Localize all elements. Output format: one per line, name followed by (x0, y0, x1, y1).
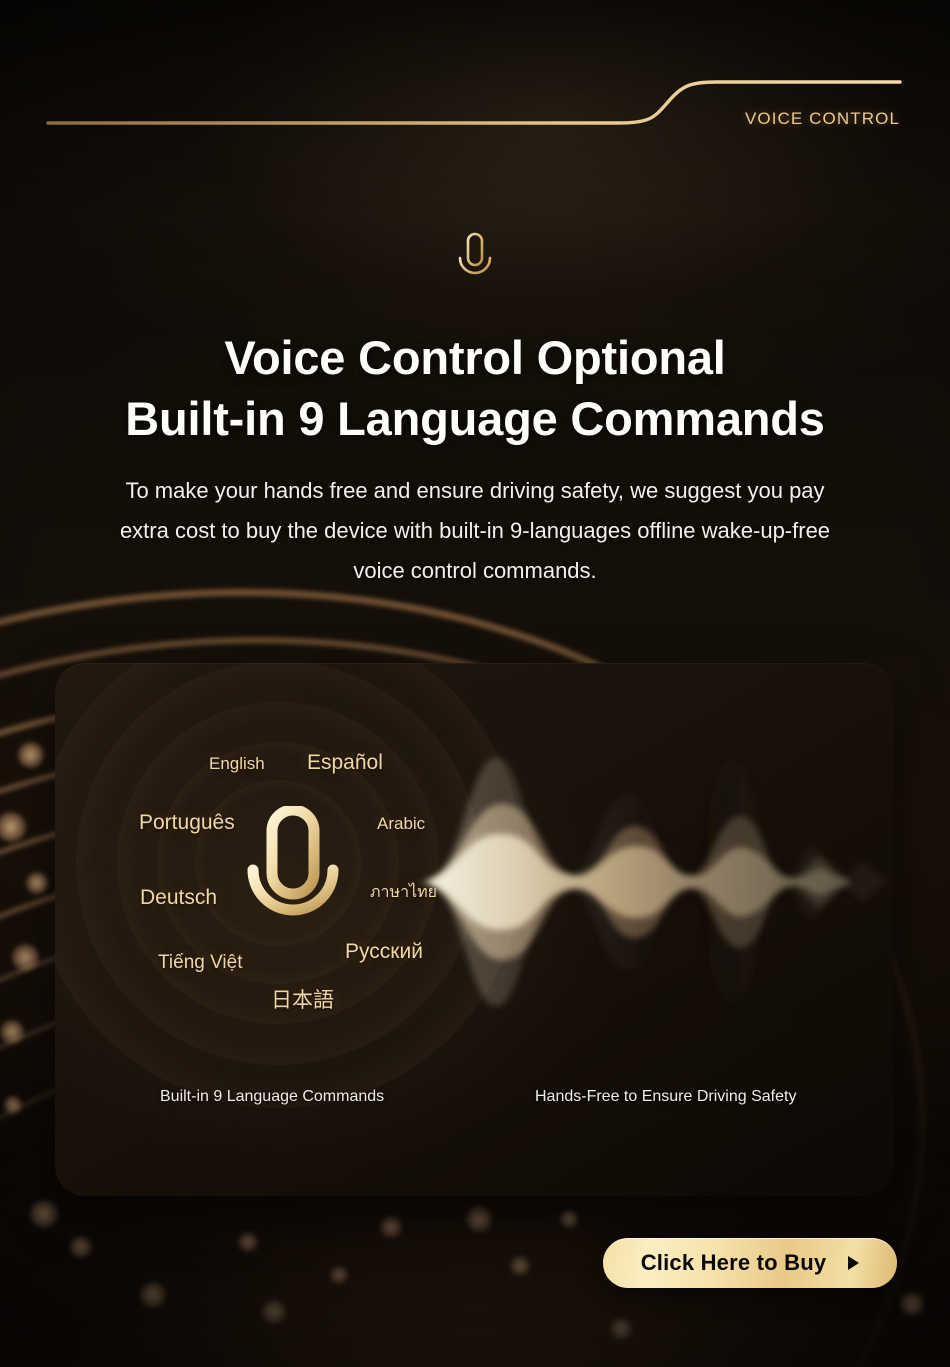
language-label: Русский (345, 940, 423, 964)
voice-control-promo-page: VOICE CONTROL Voice Control Optional Bui… (0, 0, 950, 1367)
hero-section: Voice Control Optional Built-in 9 Langua… (0, 230, 950, 591)
language-label: ภาษาไทย (370, 880, 437, 905)
title-line-2: Built-in 9 Language Commands (0, 388, 950, 449)
language-label: English (209, 754, 265, 774)
caption-languages: Built-in 9 Language Commands (160, 1088, 384, 1106)
language-label: Tiếng Việt (158, 952, 243, 974)
audio-waveform (410, 742, 900, 1022)
kicker-label: VOICE CONTROL (745, 109, 900, 129)
caption-hands-free: Hands-Free to Ensure Driving Safety (535, 1088, 796, 1106)
microphone-icon (237, 806, 349, 956)
s-curve-rule (0, 56, 950, 146)
microphone-icon (449, 230, 501, 296)
language-label: Arabic (377, 814, 425, 834)
language-label: Português (139, 811, 235, 835)
click-here-to-buy-button[interactable]: Click Here to Buy (603, 1238, 897, 1288)
page-title: Voice Control Optional Built-in 9 Langua… (0, 327, 950, 449)
language-label: Deutsch (140, 886, 217, 910)
cta-label: Click Here to Buy (641, 1250, 827, 1276)
language-label: Español (307, 751, 383, 775)
hero-paragraph: To make your hands free and ensure drivi… (99, 471, 851, 591)
play-arrow-icon (848, 1256, 859, 1270)
language-label: 日本語 (271, 984, 334, 1014)
title-line-1: Voice Control Optional (224, 331, 725, 384)
